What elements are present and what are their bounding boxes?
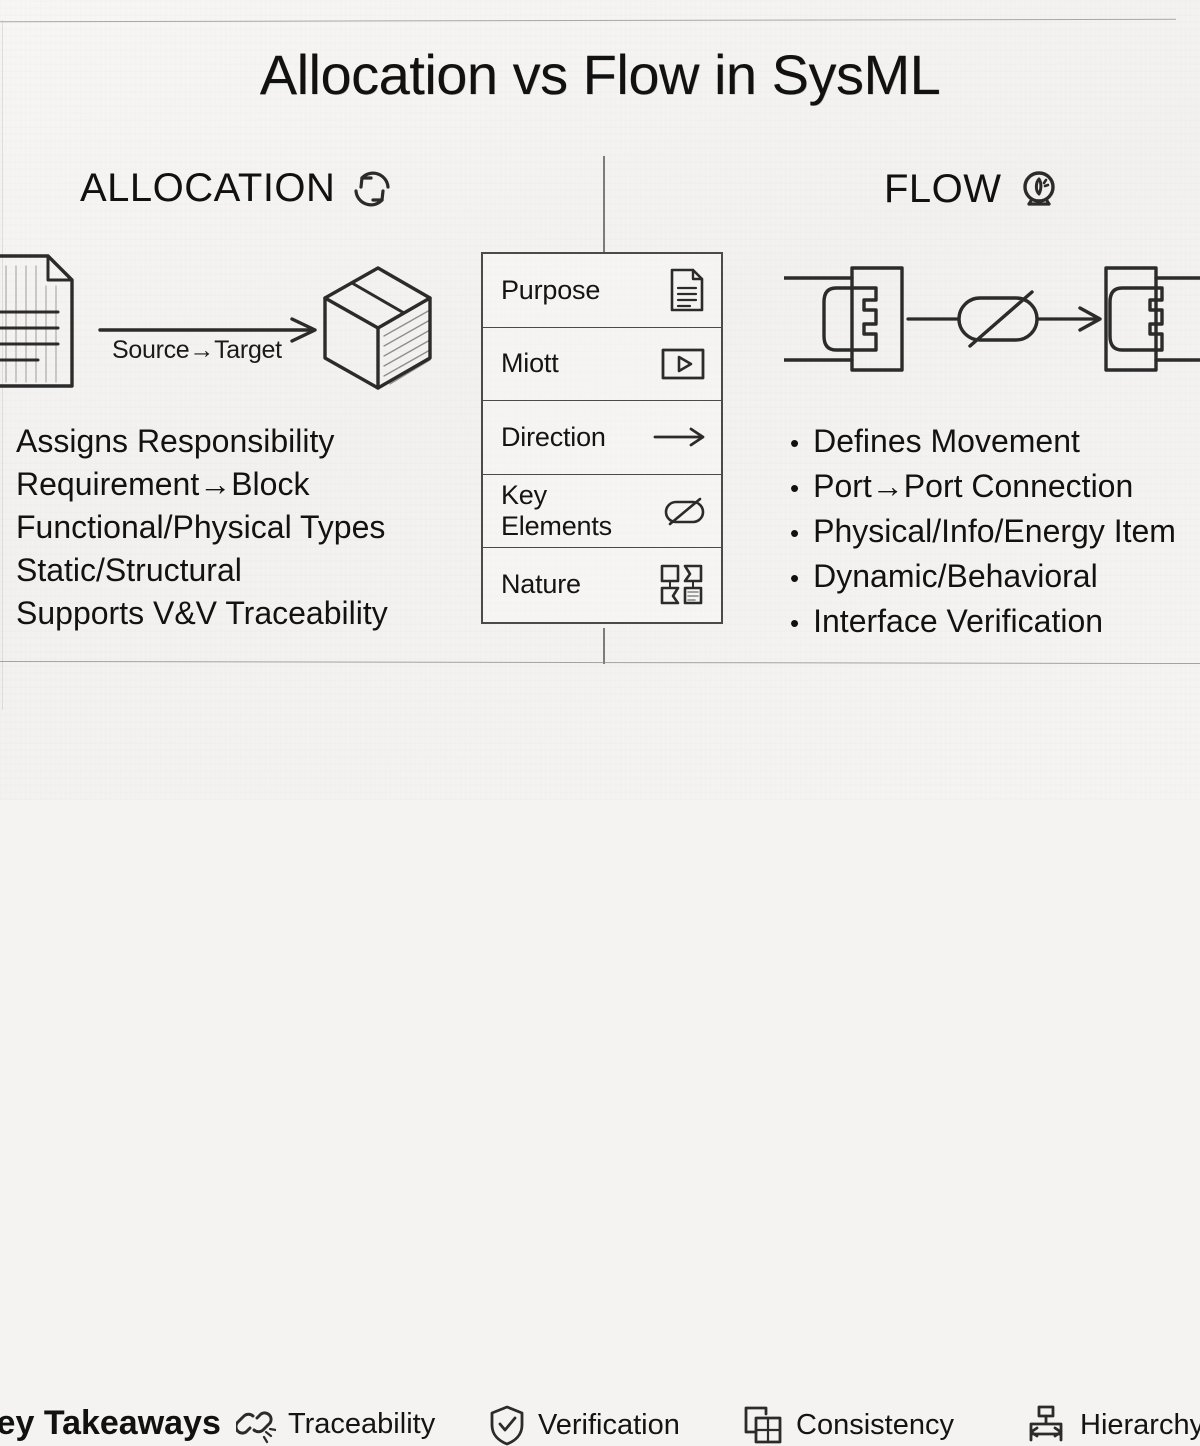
allocation-diagram [0,246,450,396]
list-item: Assigns Responsibility [16,420,388,463]
heading-flow: FLOW [884,166,1062,212]
list-item: • Physical/Info/Energy Item [790,510,1176,555]
center-divider-top [603,156,605,252]
list-item-label: Physical/Info/Energy Item [813,510,1176,553]
frame-top-border [0,19,1176,22]
bullet-marker: • [790,602,799,645]
takeaway-label: Verification [538,1409,680,1442]
takeaway-consistency: Consistency [742,1404,954,1446]
page-title: Allocation vs Flow in SysML [0,42,1200,107]
table-row-label: Nature [501,569,581,600]
heading-allocation: ALLOCATION [80,166,395,211]
document-lines-icon [667,266,707,314]
list-item: • Defines Movement [790,420,1176,465]
footer-title: Key Takeaways [0,1404,221,1443]
list-item-label: Requirement→Block [16,463,309,506]
list-item-label: Functional/Physical Types [16,506,385,549]
takeaway-label: Hierarchy [1080,1409,1200,1442]
sync-arrows-icon [349,167,395,211]
table-row-label: Direction [501,422,606,453]
port-block-icon-right [1106,268,1200,370]
comparison-table: Purpose Miott Direction [481,252,723,624]
link-chain-icon [236,1404,276,1444]
flow-bullet-list: • Defines Movement • Port→Port Connectio… [790,420,1176,645]
footer-bar: Key Takeaways Traceability Verification [0,700,1200,756]
four-squares-grid-icon [657,561,707,609]
allocation-bullet-list: Assigns Responsibility Requirement→Block… [16,420,388,635]
document-icon [0,256,72,386]
table-row-label: Key Elements [501,480,663,542]
table-row: Nature [483,548,721,622]
bullet-marker: • [790,422,799,465]
bullet-marker: • [790,512,799,555]
heading-allocation-label: ALLOCATION [80,166,335,211]
bullet-marker: • [790,467,799,510]
bullet-marker: • [790,557,799,600]
cube-block-icon [325,268,430,388]
item-flow-connector [908,292,1100,346]
table-row: Purpose [483,254,721,328]
list-item: • Port→Port Connection [790,465,1176,510]
shield-check-icon [488,1404,526,1446]
list-item-label: Assigns Responsibility [16,420,334,463]
list-item: • Dynamic/Behavioral [790,555,1176,600]
allocation-arrow-label: Source→Target [112,336,282,365]
footer-divider [0,661,1200,664]
flow-diagram [784,248,1200,388]
table-row-label: Miott [501,348,559,379]
list-item-label: Port→Port Connection [813,465,1133,508]
takeaway-hierarchy: Hierarchy [1024,1404,1200,1446]
list-item-label: Defines Movement [813,420,1080,463]
hierarchy-icon [1024,1404,1068,1446]
heading-flow-label: FLOW [884,167,1002,212]
gauge-meter-icon [1016,166,1062,212]
list-item: • Interface Verification [790,600,1176,645]
port-block-icon-left [784,268,902,370]
table-row: Direction [483,401,721,475]
slide-canvas: Allocation vs Flow in SysML ALLOCATION F… [0,0,1200,800]
takeaway-traceability: Traceability [236,1404,435,1444]
center-divider-bottom [603,628,605,664]
table-row: Miott [483,328,721,402]
copy-grid-icon [742,1404,784,1446]
list-item: Supports V&V Traceability [16,592,388,635]
right-arrow-icon [653,424,707,450]
takeaway-verification: Verification [488,1404,680,1446]
takeaway-label: Consistency [796,1409,954,1442]
list-item-label: Dynamic/Behavioral [813,555,1098,598]
list-item: Static/Structural [16,549,388,592]
list-item-label: Static/Structural [16,549,242,592]
list-item-label: Interface Verification [813,600,1103,643]
takeaway-label: Traceability [288,1408,435,1441]
list-item: Requirement→Block [16,463,388,506]
play-button-icon [659,344,707,384]
list-item-label: Supports V&V Traceability [16,592,388,635]
item-flow-capsule-icon [959,292,1037,346]
table-row: Key Elements [483,475,721,549]
list-item: Functional/Physical Types [16,506,388,549]
capsule-link-icon [663,495,707,527]
table-row-label: Purpose [501,275,600,306]
